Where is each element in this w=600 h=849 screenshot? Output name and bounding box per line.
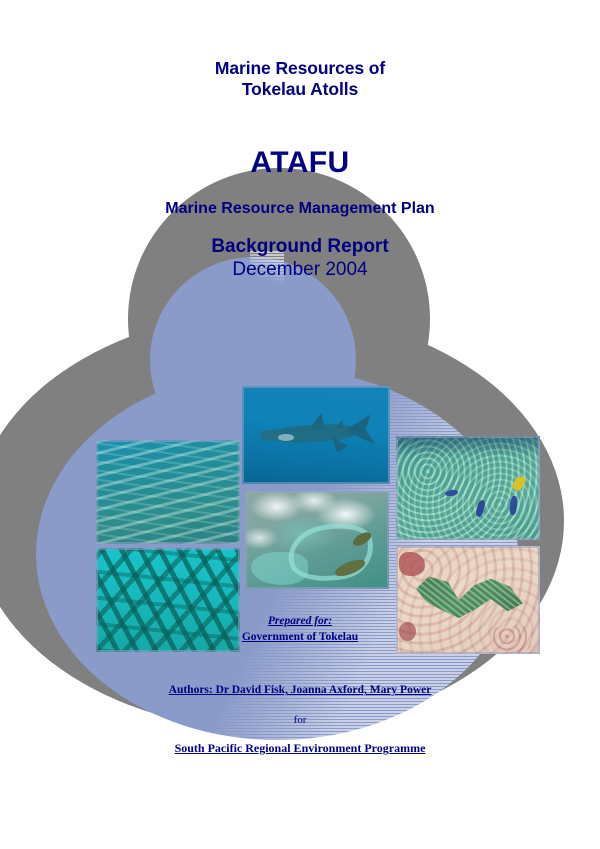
atoll-name-title: ATAFU: [0, 145, 600, 180]
credits-connector: for: [0, 713, 600, 728]
cover-text-layer: Marine Resources of Tokelau Atolls ATAFU…: [0, 0, 600, 849]
plan-title: Marine Resource Management Plan: [0, 200, 600, 219]
agency-line: South Pacific Regional Environment Progr…: [0, 740, 600, 756]
prepared-for-label: Prepared for:: [0, 614, 600, 630]
prepared-for-organisation: Government of Tokelau: [0, 630, 600, 646]
report-type-title: Background Report: [0, 236, 600, 258]
report-date: December 2004: [0, 259, 600, 281]
series-title: Marine Resources of Tokelau Atolls: [0, 58, 600, 99]
prepared-for-block: Prepared for: Government of Tokelau: [0, 614, 600, 645]
authors-line: Authors: Dr David Fisk, Joanna Axford, M…: [0, 683, 600, 699]
cover-page: Marine Resources of Tokelau Atolls ATAFU…: [0, 0, 600, 849]
